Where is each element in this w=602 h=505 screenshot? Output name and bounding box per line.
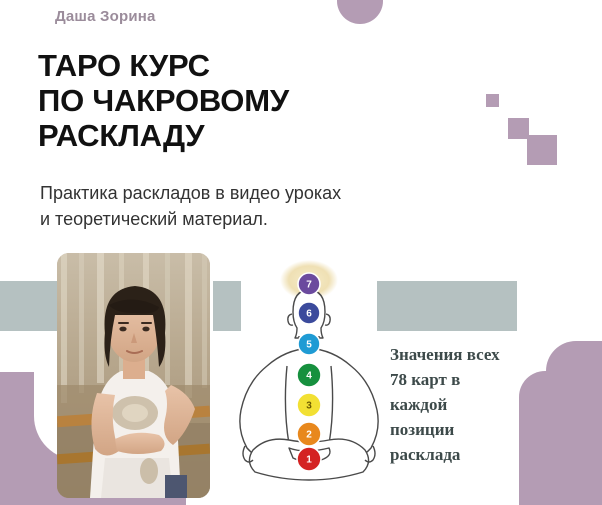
- decorative-square-small: [486, 94, 499, 107]
- feature-callout-line-2: 78 карт в: [390, 367, 540, 392]
- page-title: ТАРО КУРС ПО ЧАКРОВОМУ РАСКЛАДУ: [38, 48, 378, 153]
- gray-band-right: [377, 281, 517, 331]
- feature-callout-line-4: позиции: [390, 417, 540, 442]
- poster-canvas: 7654321 Даша Зорина ТАРО КУРС ПО ЧАКРОВО…: [0, 0, 602, 505]
- gray-band-left: [0, 281, 62, 331]
- sacral-chakra-label: 2: [306, 430, 312, 441]
- crown-chakra: 7: [298, 273, 320, 295]
- sacral-chakra: 2: [297, 422, 321, 446]
- author-name: Даша Зорина: [55, 8, 156, 25]
- feature-callout-line-3: каждой: [390, 392, 540, 417]
- solar-plexus-chakra: 3: [297, 393, 321, 417]
- page-subtitle: Практика раскладов в видео уроках и теор…: [40, 180, 460, 232]
- root-chakra: 1: [297, 447, 321, 471]
- crown-chakra-label: 7: [306, 280, 312, 291]
- page-title-line-3: РАСКЛАДУ: [38, 118, 378, 153]
- page-subtitle-line-2: и теоретический материал.: [40, 206, 460, 232]
- third-eye-chakra: 6: [298, 302, 320, 324]
- page-subtitle-line-1: Практика раскладов в видео уроках: [40, 180, 460, 206]
- purple-band-right: [546, 341, 602, 505]
- third-eye-chakra-label: 6: [306, 309, 312, 320]
- chakra-diagram: 7654321: [233, 258, 385, 490]
- decorative-square-large: [527, 135, 557, 165]
- author-photo: [57, 253, 210, 498]
- solar-plexus-chakra-label: 3: [306, 401, 312, 412]
- throat-chakra: 5: [298, 333, 320, 355]
- decorative-circle-top: [337, 0, 383, 24]
- decorative-square-medium: [508, 118, 529, 139]
- page-title-line-2: ПО ЧАКРОВОМУ: [38, 83, 378, 118]
- feature-callout: Значения всех 78 карт в каждой позиции р…: [390, 342, 540, 467]
- heart-chakra: 4: [297, 363, 321, 387]
- page-title-line-1: ТАРО КУРС: [38, 48, 378, 83]
- throat-chakra-label: 5: [306, 340, 312, 351]
- root-chakra-label: 1: [306, 455, 312, 466]
- feature-callout-line-1: Значения всех: [390, 342, 540, 367]
- feature-callout-line-5: расклада: [390, 442, 540, 467]
- heart-chakra-label: 4: [306, 371, 312, 382]
